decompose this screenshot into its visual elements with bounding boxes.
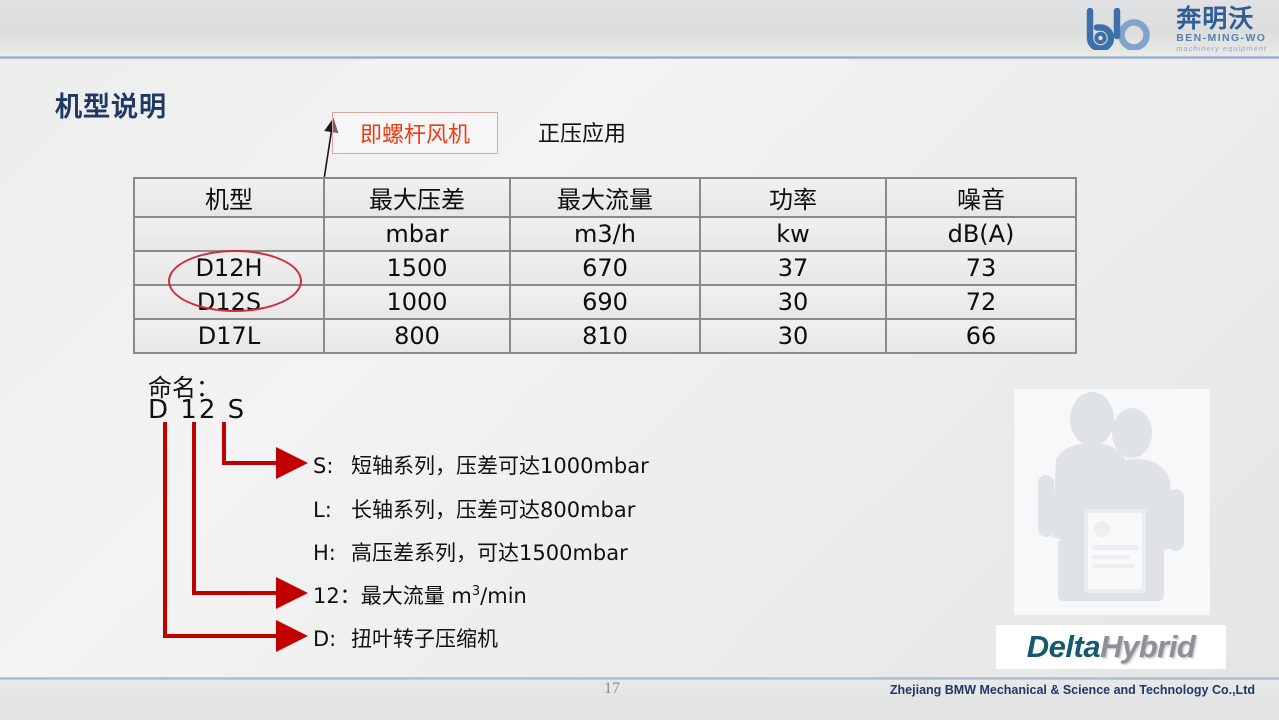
legend-key: D: bbox=[313, 627, 351, 651]
table-cell: 690 bbox=[510, 285, 700, 319]
table-cell: 66 bbox=[886, 319, 1076, 353]
table-row: D17L 800 810 30 66 bbox=[134, 319, 1076, 353]
slide-number: 17 bbox=[597, 680, 627, 698]
delta-hybrid-logo: DeltaHybrid bbox=[996, 625, 1226, 669]
product-photo bbox=[1014, 389, 1210, 615]
legend-item-l: L:长轴系列，压差可达800mbar bbox=[313, 494, 635, 524]
hybrid-wordmark: Hybrid bbox=[1100, 629, 1195, 665]
slide-canvas: 奔明沃 BEN-MING-WO machinery equipment 机型说明… bbox=[0, 0, 1279, 720]
table-cell-model: D17L bbox=[134, 319, 324, 353]
application-note: 正压应用 bbox=[538, 116, 626, 148]
legend-text-post: /min bbox=[480, 584, 527, 608]
table-cell: 30 bbox=[700, 285, 886, 319]
table-row: D12S 1000 690 30 72 bbox=[134, 285, 1076, 319]
table-units-row: mbar m3/h kw dB(A) bbox=[134, 217, 1076, 251]
page-title: 机型说明 bbox=[55, 85, 167, 124]
table-header-cell: 最大压差 bbox=[324, 178, 510, 217]
header-divider bbox=[0, 56, 1279, 59]
logo-text-group: 奔明沃 BEN-MING-WO machinery equipment bbox=[1176, 6, 1267, 53]
naming-connector-lines-icon bbox=[140, 420, 340, 660]
legend-item-d: D:扭叶转子压缩机 bbox=[313, 623, 498, 653]
table-unit-cell: dB(A) bbox=[886, 217, 1076, 251]
legend-text-pre: 最大流量 m bbox=[361, 584, 472, 608]
table-cell-model: D12H bbox=[134, 251, 324, 285]
delta-wordmark: Delta bbox=[1027, 629, 1100, 665]
table-cell-model: D12S bbox=[134, 285, 324, 319]
legend-key: L: bbox=[313, 498, 351, 522]
logo-chinese-name: 奔明沃 bbox=[1176, 6, 1254, 31]
logo-tagline: machinery equipment bbox=[1176, 45, 1267, 53]
legend-text: 扭叶转子压缩机 bbox=[351, 627, 498, 651]
specification-table: 机型 最大压差 最大流量 功率 噪音 mbar m3/h kw dB(A) D1… bbox=[133, 177, 1077, 354]
legend-superscript: 3 bbox=[472, 584, 480, 599]
table-cell: 670 bbox=[510, 251, 700, 285]
table-header-row: 机型 最大压差 最大流量 功率 噪音 bbox=[134, 178, 1076, 217]
table-header-cell: 机型 bbox=[134, 178, 324, 217]
table-cell: 37 bbox=[700, 251, 886, 285]
company-logo: 奔明沃 BEN-MING-WO machinery equipment bbox=[1052, 4, 1267, 54]
robots-illustration-icon bbox=[1014, 389, 1210, 615]
table-unit-cell: mbar bbox=[324, 217, 510, 251]
table-cell: 1000 bbox=[324, 285, 510, 319]
table-row: D12H 1500 670 37 73 bbox=[134, 251, 1076, 285]
legend-text: 长轴系列，压差可达800mbar bbox=[351, 498, 635, 522]
table-header-cell: 噪音 bbox=[886, 178, 1076, 217]
callout-box: 即螺杆风机 bbox=[332, 112, 498, 154]
legend-item-s: S:短轴系列，压差可达1000mbar bbox=[313, 450, 649, 480]
table-header-cell: 最大流量 bbox=[510, 178, 700, 217]
table-cell: 1500 bbox=[324, 251, 510, 285]
logo-english-name: BEN-MING-WO bbox=[1176, 33, 1266, 44]
table-unit-cell: m3/h bbox=[510, 217, 700, 251]
legend-item-h: H:高压差系列，可达1500mbar bbox=[313, 537, 628, 567]
callout-label: 即螺杆风机 bbox=[360, 117, 470, 149]
bo-monogram-icon bbox=[1084, 8, 1170, 50]
legend-text: 高压差系列，可达1500mbar bbox=[351, 541, 628, 565]
footer-company-name: Zhejiang BMW Mechanical & Science and Te… bbox=[890, 683, 1255, 697]
table-unit-cell: kw bbox=[700, 217, 886, 251]
table-header-cell: 功率 bbox=[700, 178, 886, 217]
table-cell: 72 bbox=[886, 285, 1076, 319]
legend-key: 12： bbox=[313, 580, 361, 610]
legend-key: S: bbox=[313, 454, 351, 478]
legend-text: 短轴系列，压差可达1000mbar bbox=[351, 454, 649, 478]
table-cell: 73 bbox=[886, 251, 1076, 285]
legend-key: H: bbox=[313, 541, 351, 565]
table-cell: 800 bbox=[324, 319, 510, 353]
footer-divider bbox=[0, 677, 1279, 680]
legend-item-12: 12：最大流量 m3/min bbox=[313, 580, 527, 610]
table-cell: 810 bbox=[510, 319, 700, 353]
table-cell: 30 bbox=[700, 319, 886, 353]
table-unit-cell bbox=[134, 217, 324, 251]
